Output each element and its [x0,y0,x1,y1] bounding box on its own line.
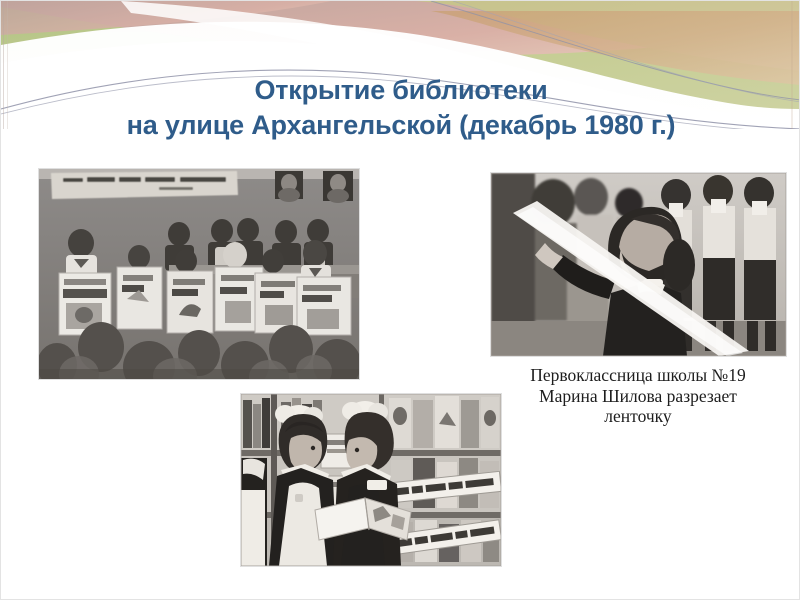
title-line-1: Открытие библиотеки [1,73,800,108]
caption-line-3: ленточку [488,406,788,427]
title-line-2: на улице Архангельской (декабрь 1980 г.) [1,108,800,143]
slide-title: Открытие библиотеки на улице Архангельск… [1,73,800,142]
presentation-slide: Открытие библиотеки на улице Архангельск… [0,0,800,600]
photo-girls-reading [241,394,501,566]
photo-caption: Первоклассница школы №19 Марина Шилова р… [488,365,788,427]
photo-assembly [39,169,359,379]
caption-line-2: Марина Шилова разрезает [488,386,788,407]
photo-ribbon-cutting [491,173,786,356]
caption-line-1: Первоклассница школы №19 [488,365,788,386]
